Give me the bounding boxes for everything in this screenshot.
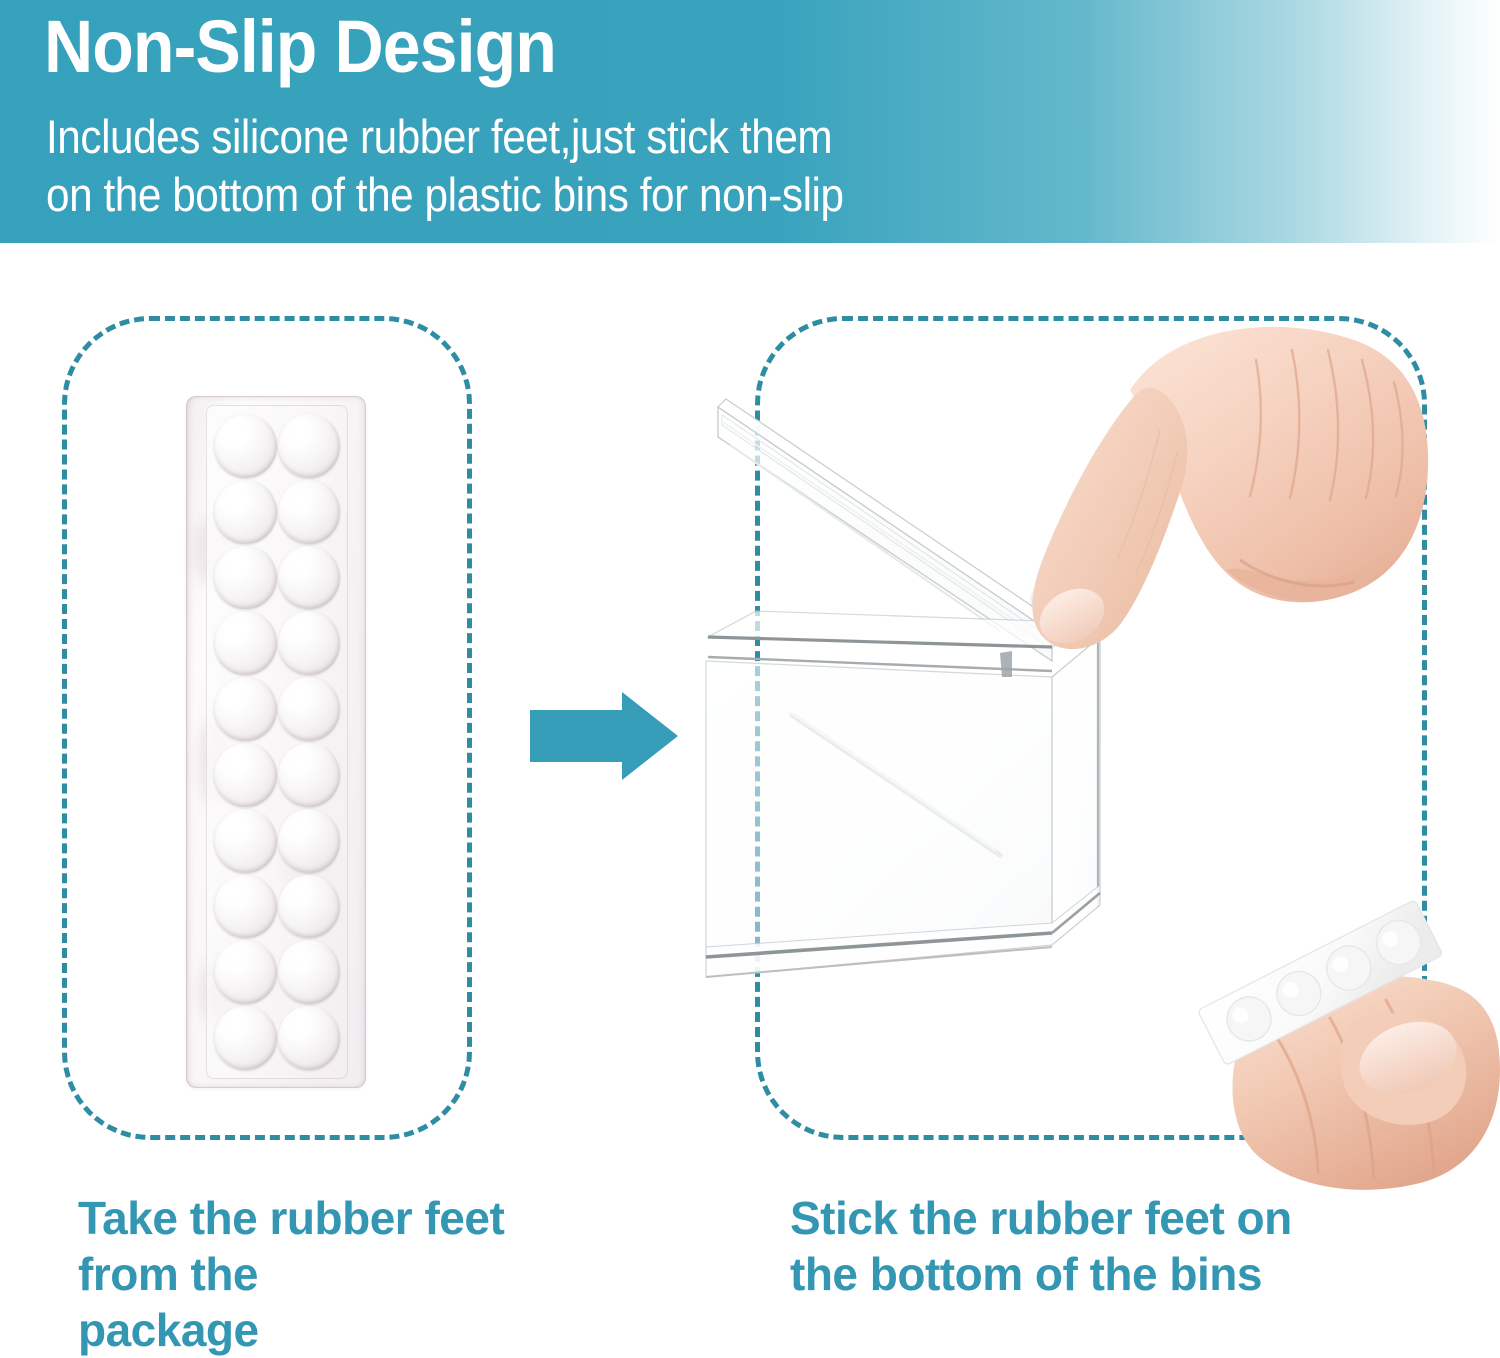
rubber-foot bbox=[278, 414, 341, 478]
blister-pack bbox=[186, 396, 366, 1088]
rubber-feet-grid bbox=[212, 410, 342, 1074]
rubber-foot bbox=[278, 1006, 341, 1070]
rubber-foot bbox=[214, 480, 277, 544]
rubber-foot bbox=[214, 677, 277, 741]
hand-pressing-foot-icon bbox=[1010, 320, 1430, 720]
page-title: Non-Slip Design bbox=[44, 8, 556, 86]
rubber-foot bbox=[214, 809, 277, 873]
rubber-foot bbox=[278, 875, 341, 939]
step-1-caption: Take the rubber feet from the package bbox=[78, 1190, 548, 1358]
header-banner: Non-Slip Design Includes silicone rubber… bbox=[0, 0, 1500, 243]
hand-holding-strip-icon bbox=[1140, 860, 1500, 1190]
rubber-foot bbox=[278, 809, 341, 873]
step-2-caption: Stick the rubber feet on the bottom of t… bbox=[790, 1190, 1450, 1302]
right-arrow-icon bbox=[530, 692, 678, 780]
rubber-foot bbox=[214, 1006, 277, 1070]
rubber-foot bbox=[214, 611, 277, 675]
rubber-foot bbox=[278, 940, 341, 1004]
rubber-foot bbox=[214, 940, 277, 1004]
rubber-foot bbox=[278, 611, 341, 675]
rubber-foot bbox=[278, 677, 341, 741]
rubber-foot bbox=[214, 875, 277, 939]
rubber-foot bbox=[214, 743, 277, 807]
rubber-foot bbox=[278, 480, 341, 544]
rubber-foot bbox=[214, 414, 277, 478]
rubber-foot bbox=[278, 743, 341, 807]
page-subtitle: Includes silicone rubber feet,just stick… bbox=[46, 108, 844, 224]
rubber-foot bbox=[214, 546, 277, 610]
rubber-foot bbox=[278, 546, 341, 610]
